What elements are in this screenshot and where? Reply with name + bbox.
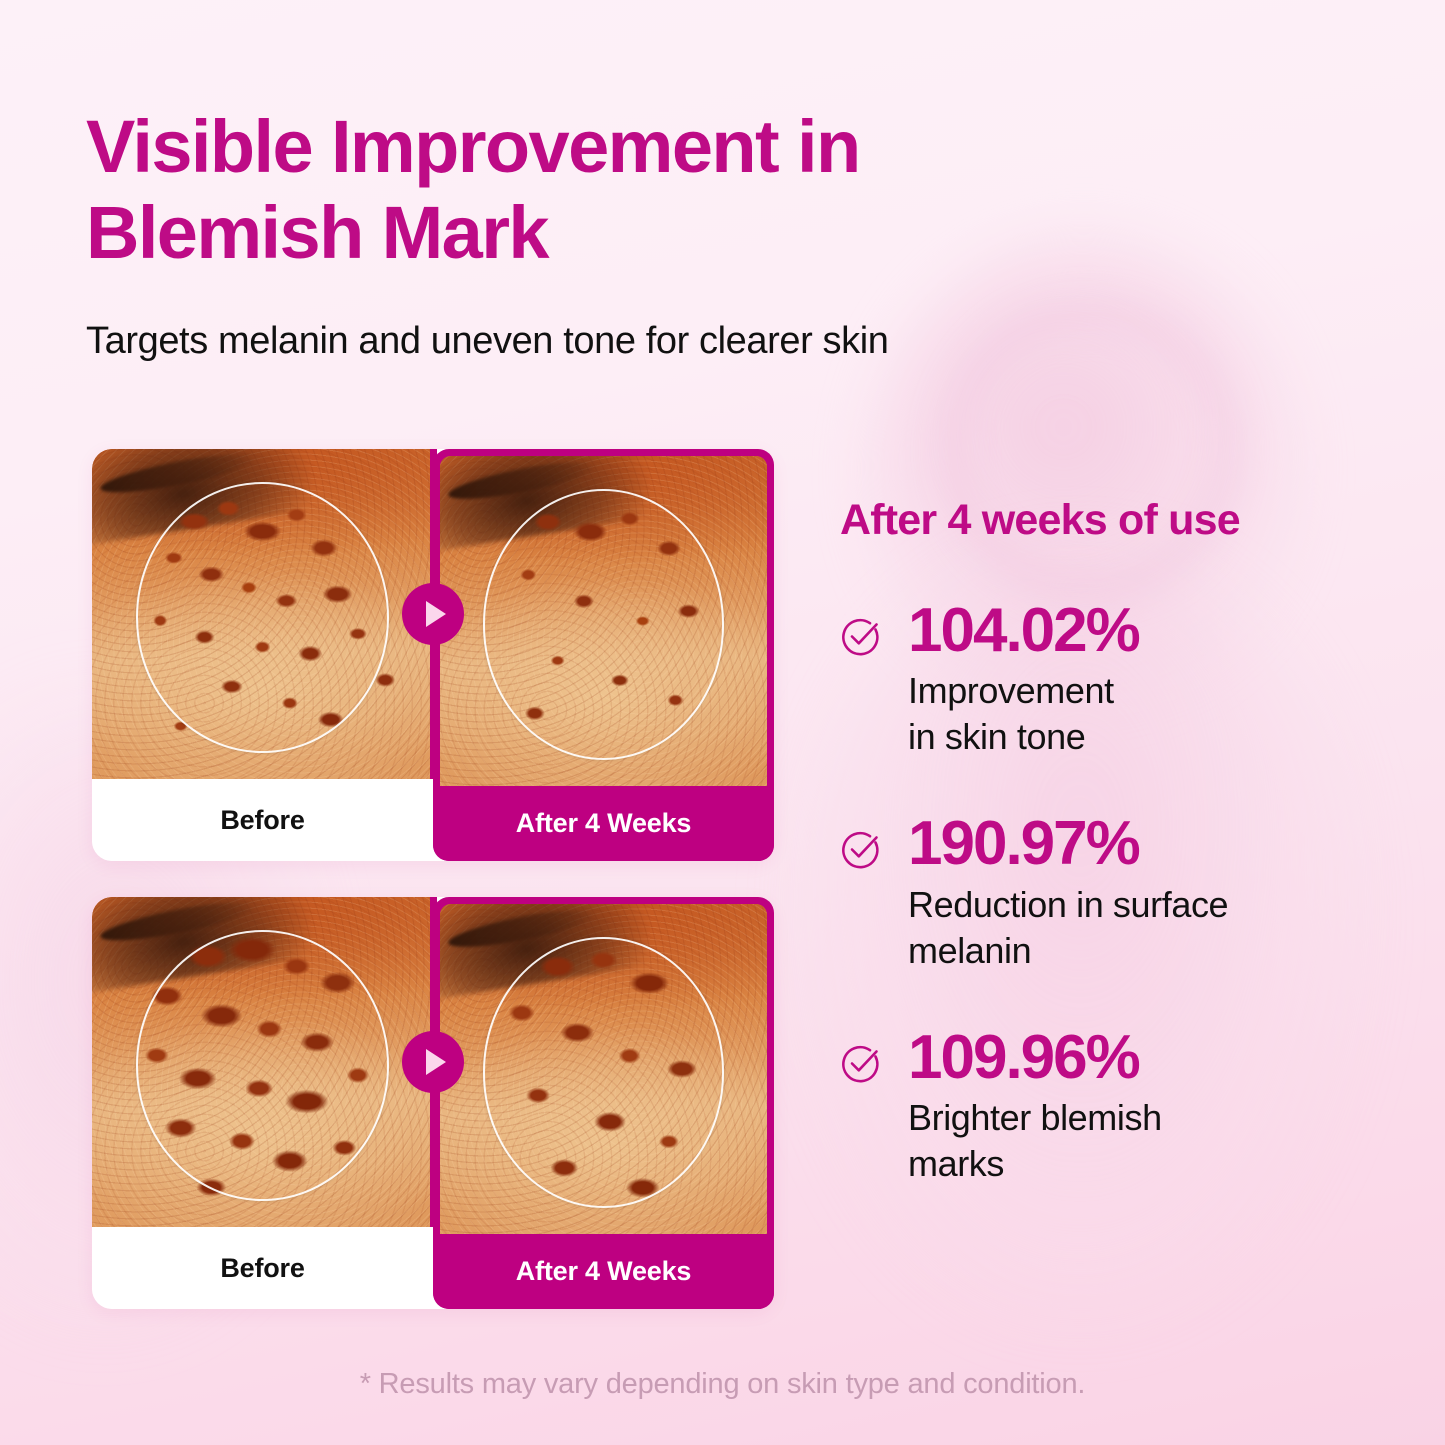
stat-value: 104.02% <box>908 599 1400 662</box>
stat-label-line-1: Improvement <box>908 670 1114 711</box>
stat-label-line-1: Reduction in surface <box>908 884 1228 925</box>
analysis-ring-overlay <box>483 937 725 1208</box>
before-label-text: Before <box>220 805 304 836</box>
stat-label-line-2: in skin tone <box>908 716 1085 757</box>
play-button[interactable] <box>402 583 464 645</box>
stat-label-line-1: Brighter blemish <box>908 1097 1162 1138</box>
analysis-ring-overlay <box>136 930 388 1201</box>
check-circle-icon <box>840 615 882 657</box>
analysis-ring-overlay <box>136 482 388 753</box>
comparison-card: Before After 4 Weeks <box>92 897 774 1309</box>
after-label-text: After 4 Weeks <box>516 808 691 839</box>
header-block: Visible Improvement in Blemish Mark Targ… <box>86 104 1126 365</box>
stat-item: 109.96% Brighter blemish marks <box>840 1026 1400 1187</box>
after-label-bar: After 4 Weeks <box>433 1234 774 1309</box>
stat-item: 190.97% Reduction in surface melanin <box>840 812 1400 973</box>
play-triangle-icon <box>426 1049 446 1075</box>
after-photo <box>440 456 767 786</box>
check-circle-icon <box>840 828 882 870</box>
play-triangle-icon <box>426 601 446 627</box>
after-label-bar: After 4 Weeks <box>433 786 774 861</box>
stats-title: After 4 weeks of use <box>840 496 1400 545</box>
before-pane: Before <box>92 897 433 1309</box>
stat-label: Reduction in surface melanin <box>908 882 1400 974</box>
before-label-bar: Before <box>92 779 433 861</box>
headline-line-1: Visible Improvement in <box>86 105 860 188</box>
page-title: Visible Improvement in Blemish Mark <box>86 104 1126 276</box>
stat-label-line-2: marks <box>908 1143 1004 1184</box>
before-photo <box>92 449 433 779</box>
stat-item: 104.02% Improvement in skin tone <box>840 599 1400 760</box>
stat-label: Improvement in skin tone <box>908 668 1400 760</box>
page-subtitle: Targets melanin and uneven tone for clea… <box>86 318 1126 366</box>
after-pane: After 4 Weeks <box>433 897 774 1309</box>
stat-value: 190.97% <box>908 812 1400 875</box>
before-label-text: Before <box>220 1253 304 1284</box>
comparison-card-list: Before After 4 Weeks <box>92 449 774 1345</box>
stats-panel: After 4 weeks of use 104.02% Improvement… <box>840 496 1400 1187</box>
before-photo <box>92 897 433 1227</box>
promo-poster: Visible Improvement in Blemish Mark Targ… <box>0 0 1445 1445</box>
before-pane: Before <box>92 449 433 861</box>
stat-value: 109.96% <box>908 1026 1400 1089</box>
after-pane: After 4 Weeks <box>433 449 774 861</box>
check-circle-icon <box>840 1042 882 1084</box>
stat-label: Brighter blemish marks <box>908 1095 1400 1187</box>
comparison-card: Before After 4 Weeks <box>92 449 774 861</box>
after-photo <box>440 904 767 1234</box>
before-label-bar: Before <box>92 1227 433 1309</box>
play-button[interactable] <box>402 1031 464 1093</box>
disclaimer-note: * Results may vary depending on skin typ… <box>0 1368 1445 1401</box>
stat-label-line-2: melanin <box>908 930 1031 971</box>
headline-line-2: Blemish Mark <box>86 191 548 274</box>
after-label-text: After 4 Weeks <box>516 1256 691 1287</box>
analysis-ring-overlay <box>483 489 725 760</box>
